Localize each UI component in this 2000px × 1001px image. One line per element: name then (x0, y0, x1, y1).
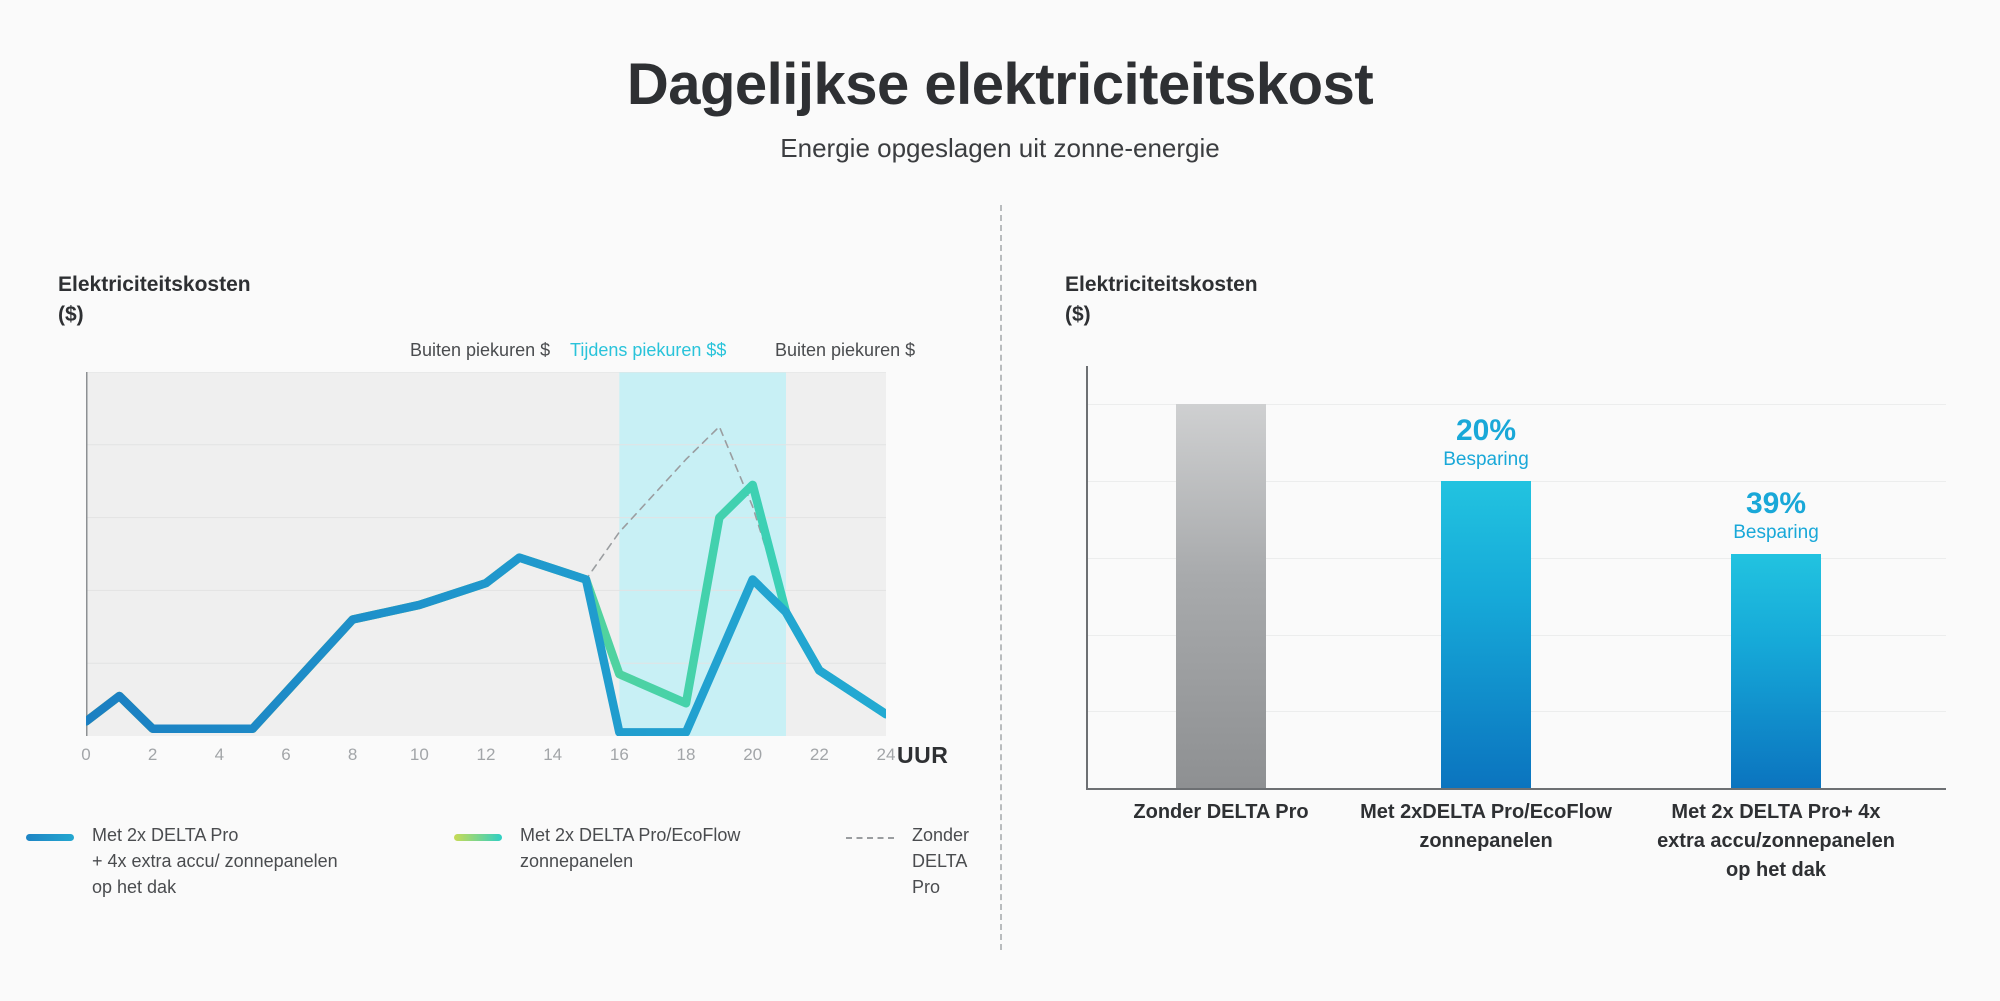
bar-category-labels: Zonder DELTA ProMet 2xDELTA Pro/EcoFlow … (1086, 798, 1946, 918)
savings-percent: 20% (1356, 414, 1616, 447)
legend-item-delta-pro-extra: Met 2x DELTA Pro + 4x extra accu/ zonnep… (26, 822, 338, 900)
x-tick-label: 22 (810, 745, 829, 765)
x-tick-label: 16 (610, 745, 629, 765)
legend-label-delta-pro-extra: Met 2x DELTA Pro + 4x extra accu/ zonnep… (92, 822, 338, 900)
off-peak-label-left: Buiten piekuren $ (410, 340, 550, 361)
legend-label-delta-pro-solar: Met 2x DELTA Pro/EcoFlow zonnepanelen (520, 822, 740, 874)
x-tick-label: 6 (281, 745, 290, 765)
savings-percent: 39% (1646, 487, 1906, 520)
x-axis-unit-label: UUR (897, 742, 948, 769)
legend-swatch-blue-icon (26, 834, 74, 841)
x-tick-label: 10 (410, 745, 429, 765)
infographic-page: Dagelijkse elektriciteitskost Energie op… (0, 0, 2000, 1001)
savings-sublabel: Besparing (1646, 522, 1906, 544)
x-tick-label: 18 (677, 745, 696, 765)
x-tick-label: 0 (81, 745, 90, 765)
x-tick-label: 12 (477, 745, 496, 765)
legend-item-zonder-delta-pro: Zonder DELTA Pro (846, 822, 976, 900)
line-chart-svg (86, 372, 886, 736)
savings-sublabel: Besparing (1356, 449, 1616, 471)
legend-label-zonder-delta-pro: Zonder DELTA Pro (912, 822, 976, 900)
bar-chart-y-axis-line (1086, 366, 1088, 790)
x-tick-label: 14 (543, 745, 562, 765)
x-tick-label: 8 (348, 745, 357, 765)
line-chart-x-axis: 024681012141618202224 (86, 745, 886, 775)
legend-swatch-dashed-icon (846, 837, 894, 839)
x-tick-label: 4 (215, 745, 224, 765)
legend-item-delta-pro-solar: Met 2x DELTA Pro/EcoFlow zonnepanelen (454, 822, 740, 874)
x-tick-label: 2 (148, 745, 157, 765)
bar-chart-y-axis-title: Elektriciteitskosten ($) (1065, 270, 1258, 331)
legend-swatch-green-icon (454, 834, 502, 841)
x-tick-label: 24 (877, 745, 896, 765)
bar-1 (1441, 481, 1531, 788)
bar-value-label: 20%Besparing (1356, 414, 1616, 471)
line-plot-area (86, 372, 886, 736)
bar-plot-area: 20%Besparing39%Besparing (1086, 366, 1946, 790)
bar-chart-baseline (1086, 788, 1946, 790)
line-chart-legend: Met 2x DELTA Pro + 4x extra accu/ zonnep… (26, 822, 976, 932)
off-peak-label-right: Buiten piekuren $ (775, 340, 915, 361)
line-chart-panel: Elektriciteitskosten ($) Buiten piekuren… (0, 0, 1000, 1001)
bar-category-label: Zonder DELTA Pro (1071, 798, 1371, 827)
bar-value-label: 39%Besparing (1646, 487, 1906, 544)
x-tick-label: 20 (743, 745, 762, 765)
peak-period-labels: Buiten piekuren $ Tijdens piekuren $$ Bu… (390, 340, 950, 366)
bar-0 (1176, 404, 1266, 788)
bar-2 (1731, 554, 1821, 788)
bar-category-label: Met 2x DELTA Pro+ 4x extra accu/zonnepan… (1626, 798, 1926, 885)
on-peak-label: Tijdens piekuren $$ (570, 340, 726, 361)
line-chart-y-axis-title: Elektriciteitskosten ($) (58, 270, 251, 331)
bar-category-label: Met 2xDELTA Pro/EcoFlow zonnepanelen (1336, 798, 1636, 856)
bar-chart-panel: Elektriciteitskosten ($) 20%Besparing39%… (1000, 0, 2000, 1001)
